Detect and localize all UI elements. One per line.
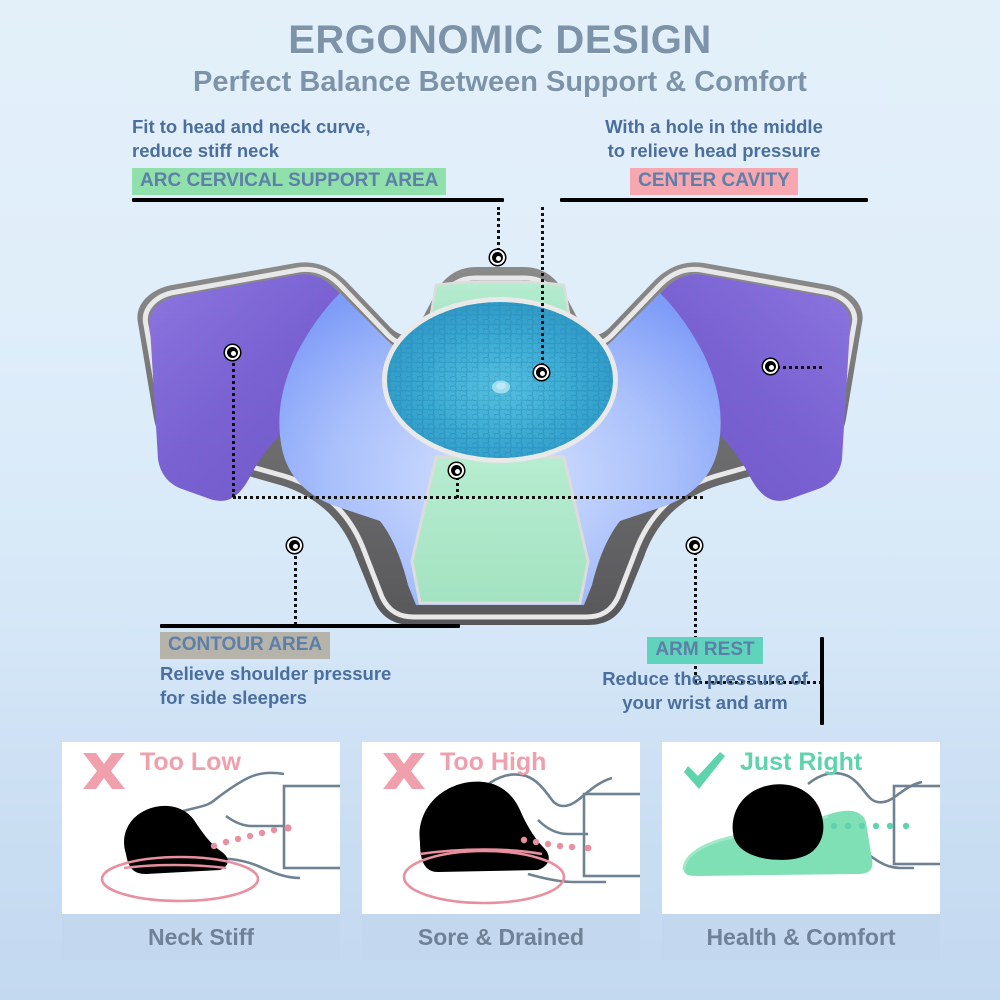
marker-contour-mint[interactable] bbox=[449, 463, 464, 478]
card-caption: Neck Stiff bbox=[62, 914, 340, 960]
comparison-card-too-high[interactable]: Too High Sore & Drained bbox=[362, 742, 640, 960]
callout-tag-wrap: CONTOUR AREA bbox=[160, 632, 460, 659]
comparison-card-too-low[interactable]: Too Low bbox=[62, 742, 340, 960]
x-mark-icon bbox=[378, 748, 430, 794]
card-status: Too Low bbox=[140, 748, 241, 777]
callout-tag: CENTER CAVITY bbox=[630, 168, 798, 195]
header: ERGONOMIC DESIGN Perfect Balance Between… bbox=[0, 18, 1000, 99]
callout-description: Relieve shoulder pressure for side sleep… bbox=[160, 662, 460, 711]
comparison-cards: Too Low bbox=[62, 742, 942, 960]
card-status: Too High bbox=[440, 748, 546, 777]
leader-left-wing bbox=[232, 352, 235, 497]
card-caption: Sore & Drained bbox=[362, 914, 640, 960]
callout-tag: ARM REST bbox=[647, 637, 762, 664]
page-title: ERGONOMIC DESIGN bbox=[0, 18, 1000, 63]
marker-arc-cervical[interactable] bbox=[490, 250, 505, 265]
callout-tag-wrap: ARM REST bbox=[560, 637, 850, 664]
callout-tag-wrap: ARC CERVICAL SUPPORT AREA bbox=[132, 168, 504, 195]
callout-tag: ARC CERVICAL SUPPORT AREA bbox=[132, 168, 446, 195]
callout-arm-vertical-rule bbox=[820, 637, 824, 725]
callout-contour-area: CONTOUR AREA Relieve shoulder pressure f… bbox=[160, 624, 460, 711]
marker-arm-bottom[interactable] bbox=[687, 538, 702, 553]
card-caption: Health & Comfort bbox=[662, 914, 940, 960]
callout-rule bbox=[560, 198, 868, 202]
card-illustration: Too High bbox=[362, 742, 640, 914]
callout-tag-wrap: CENTER CAVITY bbox=[560, 168, 868, 195]
marker-right-wing[interactable] bbox=[763, 359, 778, 374]
leader-contour-horizontal bbox=[233, 496, 703, 499]
callout-tag: CONTOUR AREA bbox=[160, 632, 330, 659]
callout-description: Fit to head and neck curve, reduce stiff… bbox=[132, 115, 504, 164]
callout-arm-rest: ARM REST Reduce the pressure of your wri… bbox=[560, 637, 850, 716]
marker-contour-edge[interactable] bbox=[287, 538, 302, 553]
leader-center-cavity bbox=[541, 207, 544, 372]
card-illustration: Just Right bbox=[662, 742, 940, 914]
leader-contour-edge bbox=[294, 545, 297, 625]
callout-center-cavity: With a hole in the middle to relieve hea… bbox=[560, 115, 868, 202]
card-illustration: Too Low bbox=[62, 742, 340, 914]
callout-rule bbox=[160, 624, 460, 628]
page-subtitle: Perfect Balance Between Support & Comfor… bbox=[0, 66, 1000, 99]
check-mark-icon bbox=[678, 748, 730, 794]
callout-description: With a hole in the middle to relieve hea… bbox=[560, 115, 868, 164]
callout-description: Reduce the pressure of your wrist and ar… bbox=[560, 667, 850, 716]
callout-arc-cervical-support-area: Fit to head and neck curve, reduce stiff… bbox=[132, 115, 504, 202]
marker-left-wing[interactable] bbox=[225, 345, 240, 360]
x-mark-icon bbox=[78, 748, 130, 794]
card-status: Just Right bbox=[740, 748, 862, 777]
callout-rule bbox=[132, 198, 504, 202]
marker-center-cavity[interactable] bbox=[534, 365, 549, 380]
comparison-card-just-right[interactable]: Just Right Health & Comfort bbox=[662, 742, 940, 960]
